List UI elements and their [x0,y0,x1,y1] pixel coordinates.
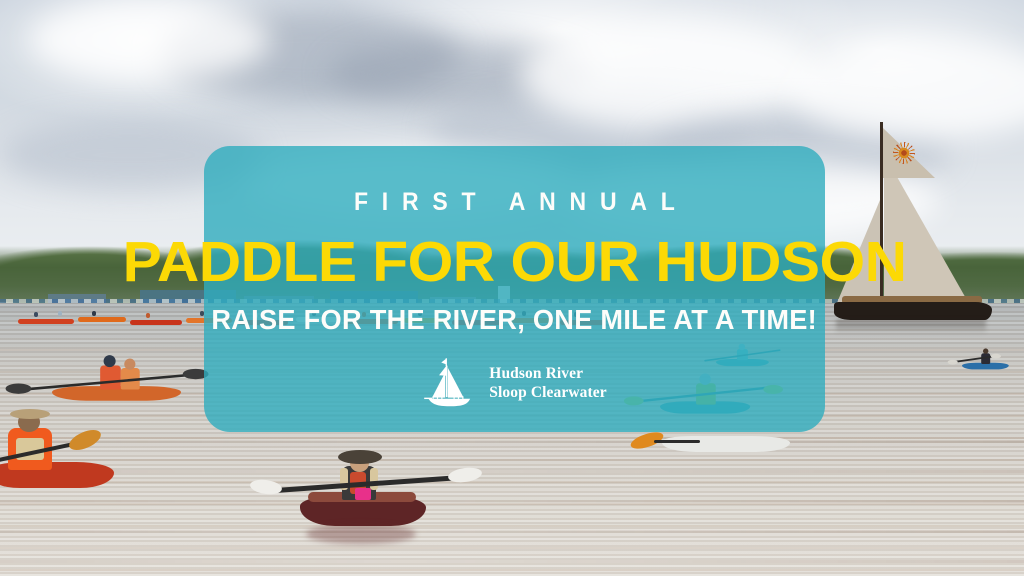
subtitle-text: RAISE FOR THE RIVER, ONE MILE AT A TIME! [212,306,818,334]
reflection [836,320,986,334]
sun-emblem-icon [893,142,915,164]
logo-line-1: Hudson River [489,365,606,383]
page-title: PADDLE FOR OUR HUDSON [123,235,907,290]
organization-logo: Hudson River Sloop Clearwater [422,356,606,412]
sailboat-sloop-icon [422,356,478,412]
eyebrow-text: FIRST ANNUAL [340,190,688,215]
logo-wordmark: Hudson River Sloop Clearwater [489,365,606,402]
text-overlay-panel: FIRST ANNUAL PADDLE FOR OUR HUDSON RAISE… [204,146,825,432]
logo-line-2: Sloop Clearwater [489,384,606,402]
event-poster: FIRST ANNUAL PADDLE FOR OUR HUDSON RAISE… [0,0,1024,576]
hull [834,302,992,320]
water-ripples-near [0,430,1024,576]
